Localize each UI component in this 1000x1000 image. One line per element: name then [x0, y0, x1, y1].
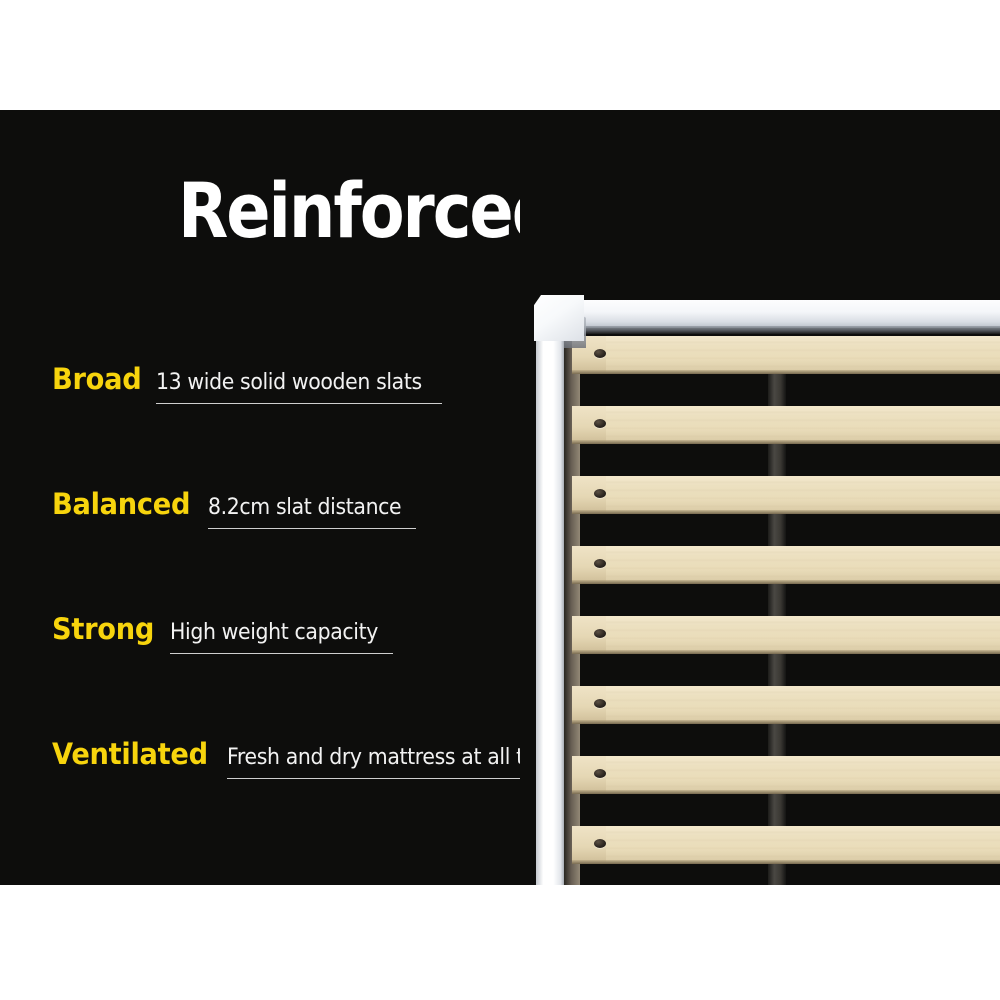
slat-wood-grain	[572, 616, 1000, 650]
slat-wood-grain	[572, 756, 1000, 790]
feature-description: 8.2cm slat distance	[208, 497, 401, 519]
slat-end-cap	[572, 476, 606, 514]
list-item: Broad 13 wide solid wooden slats	[52, 362, 522, 487]
product-photo	[520, 110, 1000, 885]
slat-end-cap	[572, 546, 606, 584]
screw-icon	[594, 489, 606, 498]
slat-wood-grain	[572, 406, 1000, 440]
feature-description-underline: 8.2cm slat distance	[208, 497, 416, 529]
slat-end-cap	[572, 406, 606, 444]
feature-term: Strong	[52, 612, 154, 646]
list-item: Strong High weight capacity	[52, 612, 522, 737]
wooden-slat	[572, 756, 1000, 794]
feature-term: Balanced	[52, 487, 190, 521]
wooden-slat	[572, 336, 1000, 374]
slat-end-cap	[572, 756, 606, 794]
screw-icon	[594, 419, 606, 428]
slat-group	[520, 110, 1000, 885]
feature-description-underline: 13 wide solid wooden slats	[156, 372, 442, 404]
slat-wood-grain	[572, 826, 1000, 860]
slat-wood-grain	[572, 476, 1000, 510]
product-feature-image: Reinforced thick slats Broad 13 wide sol…	[0, 0, 1000, 1000]
screw-icon	[594, 769, 606, 778]
feature-list: Broad 13 wide solid wooden slats Balance…	[52, 362, 522, 862]
screw-icon	[594, 349, 606, 358]
screw-icon	[594, 629, 606, 638]
slat-wood-grain	[572, 686, 1000, 720]
top-frame-rail	[550, 300, 1000, 328]
slat-end-cap	[572, 686, 606, 724]
feature-description-underline: High weight capacity	[170, 622, 394, 654]
wooden-slat	[572, 476, 1000, 514]
slat-wood-grain	[572, 336, 1000, 370]
wooden-slat	[572, 616, 1000, 654]
wooden-slat	[572, 406, 1000, 444]
corner-post-cap	[534, 295, 584, 341]
wooden-slat	[572, 826, 1000, 864]
screw-icon	[594, 839, 606, 848]
feature-term: Broad	[52, 362, 141, 396]
top-frame-rail-shadow	[550, 326, 1000, 334]
feature-description: High weight capacity	[170, 622, 378, 644]
screw-icon	[594, 699, 606, 708]
list-item: Balanced 8.2cm slat distance	[52, 487, 522, 612]
content-panel: Reinforced thick slats Broad 13 wide sol…	[0, 110, 1000, 885]
list-item: Ventilated Fresh and dry mattress at all…	[52, 737, 522, 862]
wooden-slat	[572, 686, 1000, 724]
feature-description: 13 wide solid wooden slats	[156, 372, 422, 394]
screw-icon	[594, 559, 606, 568]
slat-end-cap	[572, 826, 606, 864]
slat-end-cap	[572, 616, 606, 654]
slat-wood-grain	[572, 546, 1000, 580]
feature-term: Ventilated	[52, 737, 208, 771]
wooden-slat	[572, 546, 1000, 584]
corner-post	[536, 324, 564, 885]
